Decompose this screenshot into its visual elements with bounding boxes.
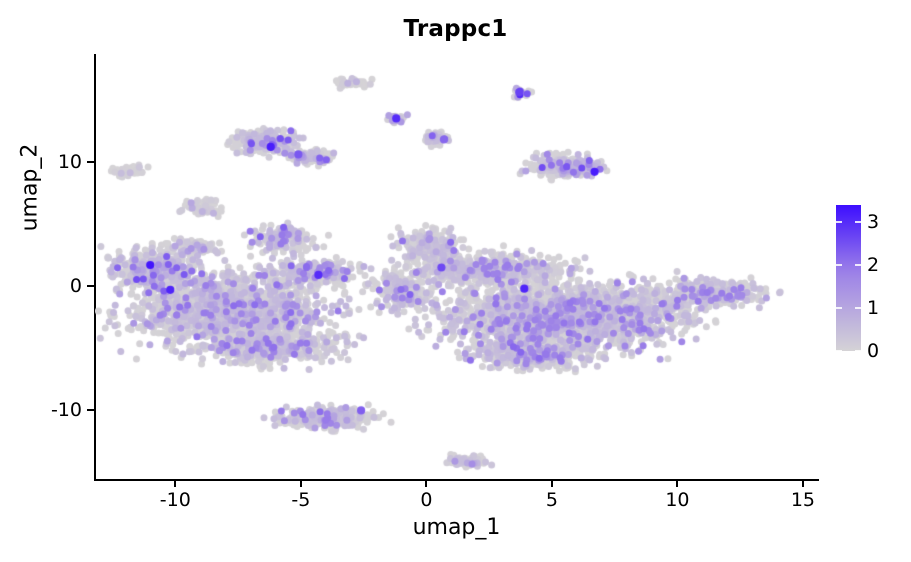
x-tick-label: 10 xyxy=(647,489,707,511)
colorbar xyxy=(836,205,861,351)
colorbar-tick-mark xyxy=(836,221,842,223)
y-tick-mark xyxy=(87,285,94,287)
x-tick-label: 15 xyxy=(773,489,833,511)
x-tick-mark xyxy=(425,481,427,487)
y-tick-mark xyxy=(87,409,94,411)
y-tick-mark xyxy=(87,161,94,163)
colorbar-tick-mark xyxy=(836,350,842,352)
scatter-points-layer xyxy=(95,55,818,480)
x-axis-label: umap_1 xyxy=(95,515,818,540)
x-tick-mark xyxy=(676,481,678,487)
colorbar-tick-mark xyxy=(855,221,861,223)
colorbar-tick-mark xyxy=(855,264,861,266)
colorbar-tick-label: 0 xyxy=(867,340,897,362)
colorbar-tick-mark xyxy=(855,350,861,352)
colorbar-tick-label: 2 xyxy=(867,254,897,276)
y-tick-label: -10 xyxy=(20,399,82,421)
colorbar-tick-label: 3 xyxy=(867,211,897,233)
x-tick-mark xyxy=(551,481,553,487)
x-tick-mark xyxy=(802,481,804,487)
chart-title: Trappc1 xyxy=(0,16,911,42)
colorbar-tick-mark xyxy=(836,264,842,266)
colorbar-gradient xyxy=(836,205,861,351)
figure-canvas: Trappc1 -10-5051015 -10010 umap_1 umap_2… xyxy=(0,0,911,562)
plot-area xyxy=(95,55,818,480)
x-tick-mark xyxy=(300,481,302,487)
y-axis-label: umap_2 xyxy=(18,88,43,288)
x-tick-label: 5 xyxy=(522,489,582,511)
colorbar-tick-mark xyxy=(836,307,842,309)
x-tick-mark xyxy=(174,481,176,487)
colorbar-tick-mark xyxy=(855,307,861,309)
colorbar-tick-label: 1 xyxy=(867,297,897,319)
x-tick-label: 0 xyxy=(396,489,456,511)
x-tick-label: -10 xyxy=(145,489,205,511)
x-tick-label: -5 xyxy=(271,489,331,511)
